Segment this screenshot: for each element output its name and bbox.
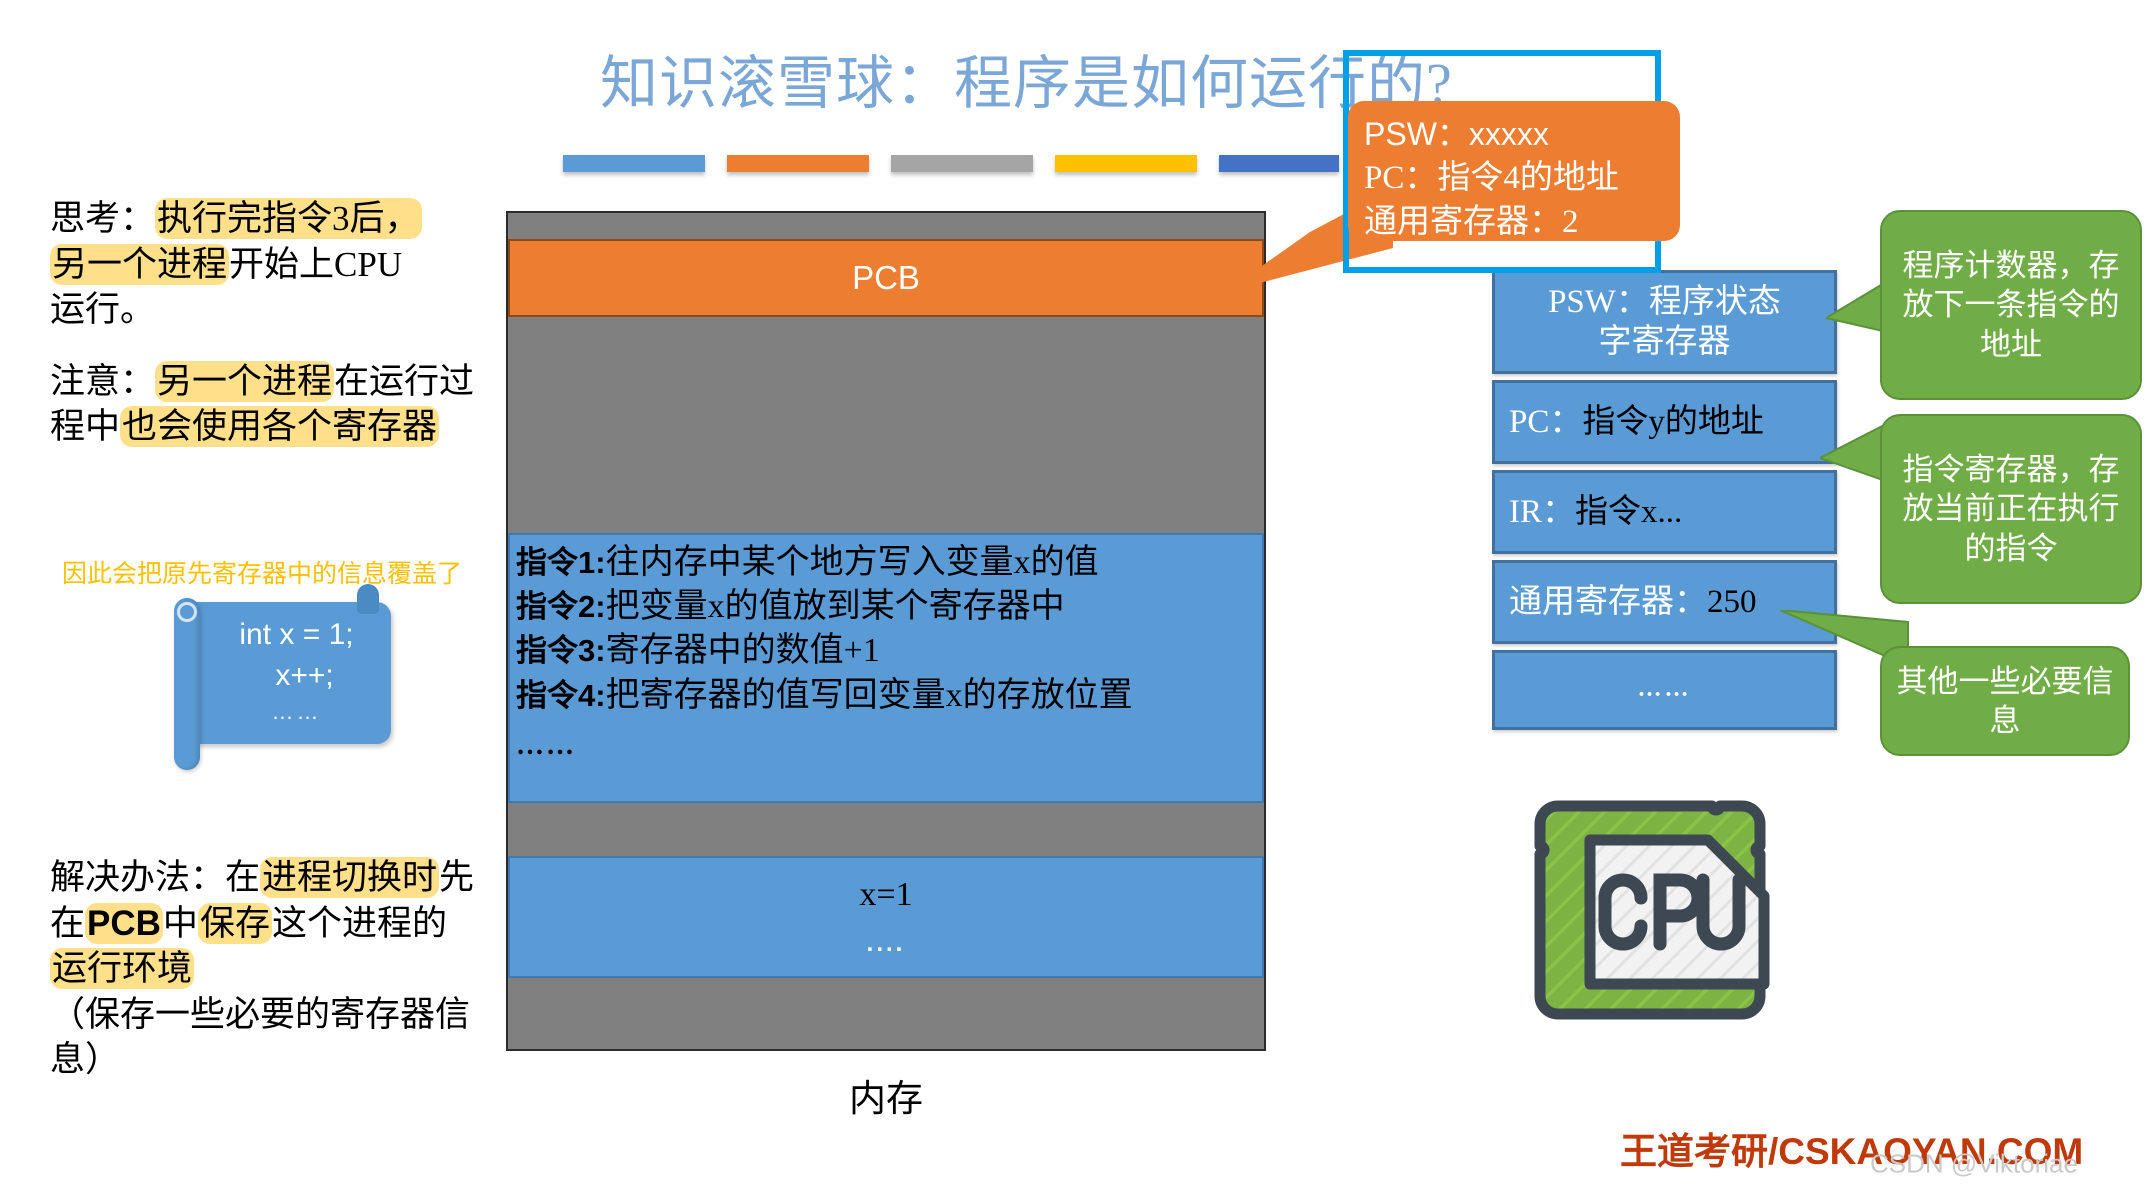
instruction-4-no: 指令4: bbox=[516, 678, 606, 713]
instruction-3-no: 指令3: bbox=[516, 633, 606, 668]
note-solution-plain-4: 这个进程的 bbox=[272, 904, 447, 943]
instruction-1-text: 往内存中某个地方写入变量x的值 bbox=[606, 544, 1099, 581]
pcb-label: PCB bbox=[852, 259, 920, 297]
code-scroll-shape: int x = 1; x++; …… bbox=[160, 592, 395, 760]
page-title: 知识滚雪球：程序是如何运行的? bbox=[600, 52, 1420, 117]
note-attention: 注意：另一个进程在运行过程中也会使用各个寄存器 bbox=[50, 359, 480, 450]
note-solution-plain-3: 中 bbox=[163, 904, 198, 943]
saved-context-line-3: 通用寄存器：2 bbox=[1364, 200, 1680, 244]
register-ir-value: 指令x... bbox=[1575, 492, 1682, 532]
code-line-1: int x = 1; bbox=[208, 614, 385, 655]
watermark-label: CSDN @Viktoriae bbox=[1870, 1149, 2078, 1180]
memory-data-more: .... bbox=[867, 930, 906, 958]
title-bar-orange bbox=[727, 155, 869, 172]
title-bar-blue bbox=[563, 155, 705, 172]
register-ir: IR：指令x... bbox=[1492, 470, 1837, 554]
note-solution-plain-1: 在 bbox=[225, 858, 260, 897]
code-scroll-text: int x = 1; x++; …… bbox=[208, 614, 385, 727]
note-think-hl-2: 另一个进程 bbox=[50, 244, 229, 285]
note-solution-hl-2: PCB bbox=[85, 903, 163, 944]
saved-context-line-1: PSW：xxxxx bbox=[1364, 113, 1680, 156]
register-pc-value: 指令y的地址 bbox=[1582, 402, 1764, 442]
saved-context-callout: PSW：xxxxx PC：指令4的地址 通用寄存器：2 bbox=[1348, 101, 1680, 241]
code-line-3: …… bbox=[208, 697, 385, 727]
register-pc-label: PC： bbox=[1509, 402, 1582, 442]
callout-etc-description: 其他一些必要信息 bbox=[1880, 646, 2130, 756]
cpu-chip-icon bbox=[1528, 784, 1784, 1040]
register-gpr-value: 250 bbox=[1707, 582, 1757, 622]
memory-diagram: PCB 指令1:往内存中某个地方写入变量x的值 指令2:把变量x的值放到某个寄存… bbox=[506, 211, 1266, 1051]
code-scroll-roll-icon bbox=[174, 598, 200, 770]
left-notes-column: 思考：执行完指令3后， 另一个进程开始上CPU 运行。 注意：另一个进程在运行过… bbox=[50, 196, 480, 476]
title-decoration-bars bbox=[563, 155, 1339, 172]
register-ir-label: IR： bbox=[1509, 492, 1575, 532]
title-bar-darkblue bbox=[1219, 155, 1339, 172]
note-think-plain-2: 运行。 bbox=[50, 290, 155, 329]
memory-caption: 内存 bbox=[506, 1068, 1266, 1122]
note-think-plain-1: 开始上CPU bbox=[229, 245, 402, 284]
register-etc-value: …… bbox=[1638, 675, 1692, 704]
memory-data-value: x=1 bbox=[859, 876, 912, 914]
instruction-row-3: 指令3:寄存器中的数值+1 bbox=[516, 629, 1133, 673]
code-line-2: x++; bbox=[208, 655, 385, 696]
note-attention-lead: 注意： bbox=[50, 362, 155, 401]
instruction-3-text: 寄存器中的数值+1 bbox=[606, 632, 880, 669]
note-attention-hl-2: 也会使用各个寄存器 bbox=[120, 406, 439, 447]
callout-pc-description: 程序计数器，存放下一条指令的地址 bbox=[1880, 210, 2142, 400]
note-solution-plain-5: （保存一些必要的寄存器信息） bbox=[50, 995, 470, 1080]
instruction-2-text: 把变量x的值放到某个寄存器中 bbox=[606, 588, 1065, 625]
instruction-1-no: 指令1: bbox=[516, 545, 606, 580]
note-think-hl-1: 执行完指令3后， bbox=[155, 198, 422, 239]
saved-context-line-2: PC：指令4的地址 bbox=[1364, 156, 1680, 200]
note-solution-hl-3: 保存 bbox=[198, 903, 272, 944]
register-psw: PSW：程序状态 字寄存器 bbox=[1492, 270, 1837, 374]
note-overwrite-warning: 因此会把原先寄存器中的信息覆盖了 bbox=[62, 554, 462, 590]
instruction-more: …… bbox=[516, 728, 1133, 764]
instruction-2-no: 指令2: bbox=[516, 589, 606, 624]
title-bar-yellow bbox=[1055, 155, 1197, 172]
note-think-lead: 思考： bbox=[50, 199, 155, 238]
callout-ir-description: 指令寄存器，存放当前正在执行的指令 bbox=[1880, 414, 2142, 604]
instruction-row-1: 指令1:往内存中某个地方写入变量x的值 bbox=[516, 541, 1133, 585]
register-psw-label-b: 字寄存器 bbox=[1548, 322, 1781, 362]
note-solution-hl-1: 进程切换时 bbox=[260, 857, 439, 898]
solution-note: 解决办法：在进程切换时先在PCB中保存这个进程的运行环境 （保存一些必要的寄存器… bbox=[50, 855, 480, 1083]
memory-block-pcb: PCB bbox=[508, 239, 1264, 317]
note-solution-lead: 解决办法： bbox=[50, 858, 225, 897]
register-gpr-label: 通用寄存器： bbox=[1509, 582, 1707, 622]
instruction-4-text: 把寄存器的值写回变量x的存放位置 bbox=[606, 677, 1133, 714]
instruction-row-2: 指令2:把变量x的值放到某个寄存器中 bbox=[516, 585, 1133, 629]
note-attention-hl-1: 另一个进程 bbox=[155, 361, 334, 402]
title-bar-gray bbox=[891, 155, 1033, 172]
instruction-list: 指令1:往内存中某个地方写入变量x的值 指令2:把变量x的值放到某个寄存器中 指… bbox=[510, 535, 1133, 764]
memory-block-data: x=1 .... bbox=[508, 856, 1264, 978]
note-solution: 解决办法：在进程切换时先在PCB中保存这个进程的运行环境 （保存一些必要的寄存器… bbox=[50, 855, 480, 1083]
note-think: 思考：执行完指令3后， 另一个进程开始上CPU 运行。 bbox=[50, 196, 480, 333]
note-solution-hl-4: 运行环境 bbox=[50, 948, 194, 989]
slide-canvas: 知识滚雪球：程序是如何运行的? 思考：执行完指令3后， 另一个进程开始上CPU … bbox=[0, 0, 2144, 1200]
instruction-row-4: 指令4:把寄存器的值写回变量x的存放位置 bbox=[516, 674, 1133, 718]
memory-block-instructions: 指令1:往内存中某个地方写入变量x的值 指令2:把变量x的值放到某个寄存器中 指… bbox=[508, 533, 1264, 803]
register-psw-label-a: PSW：程序状态 bbox=[1548, 282, 1781, 322]
register-pc: PC：指令y的地址 bbox=[1492, 380, 1837, 464]
